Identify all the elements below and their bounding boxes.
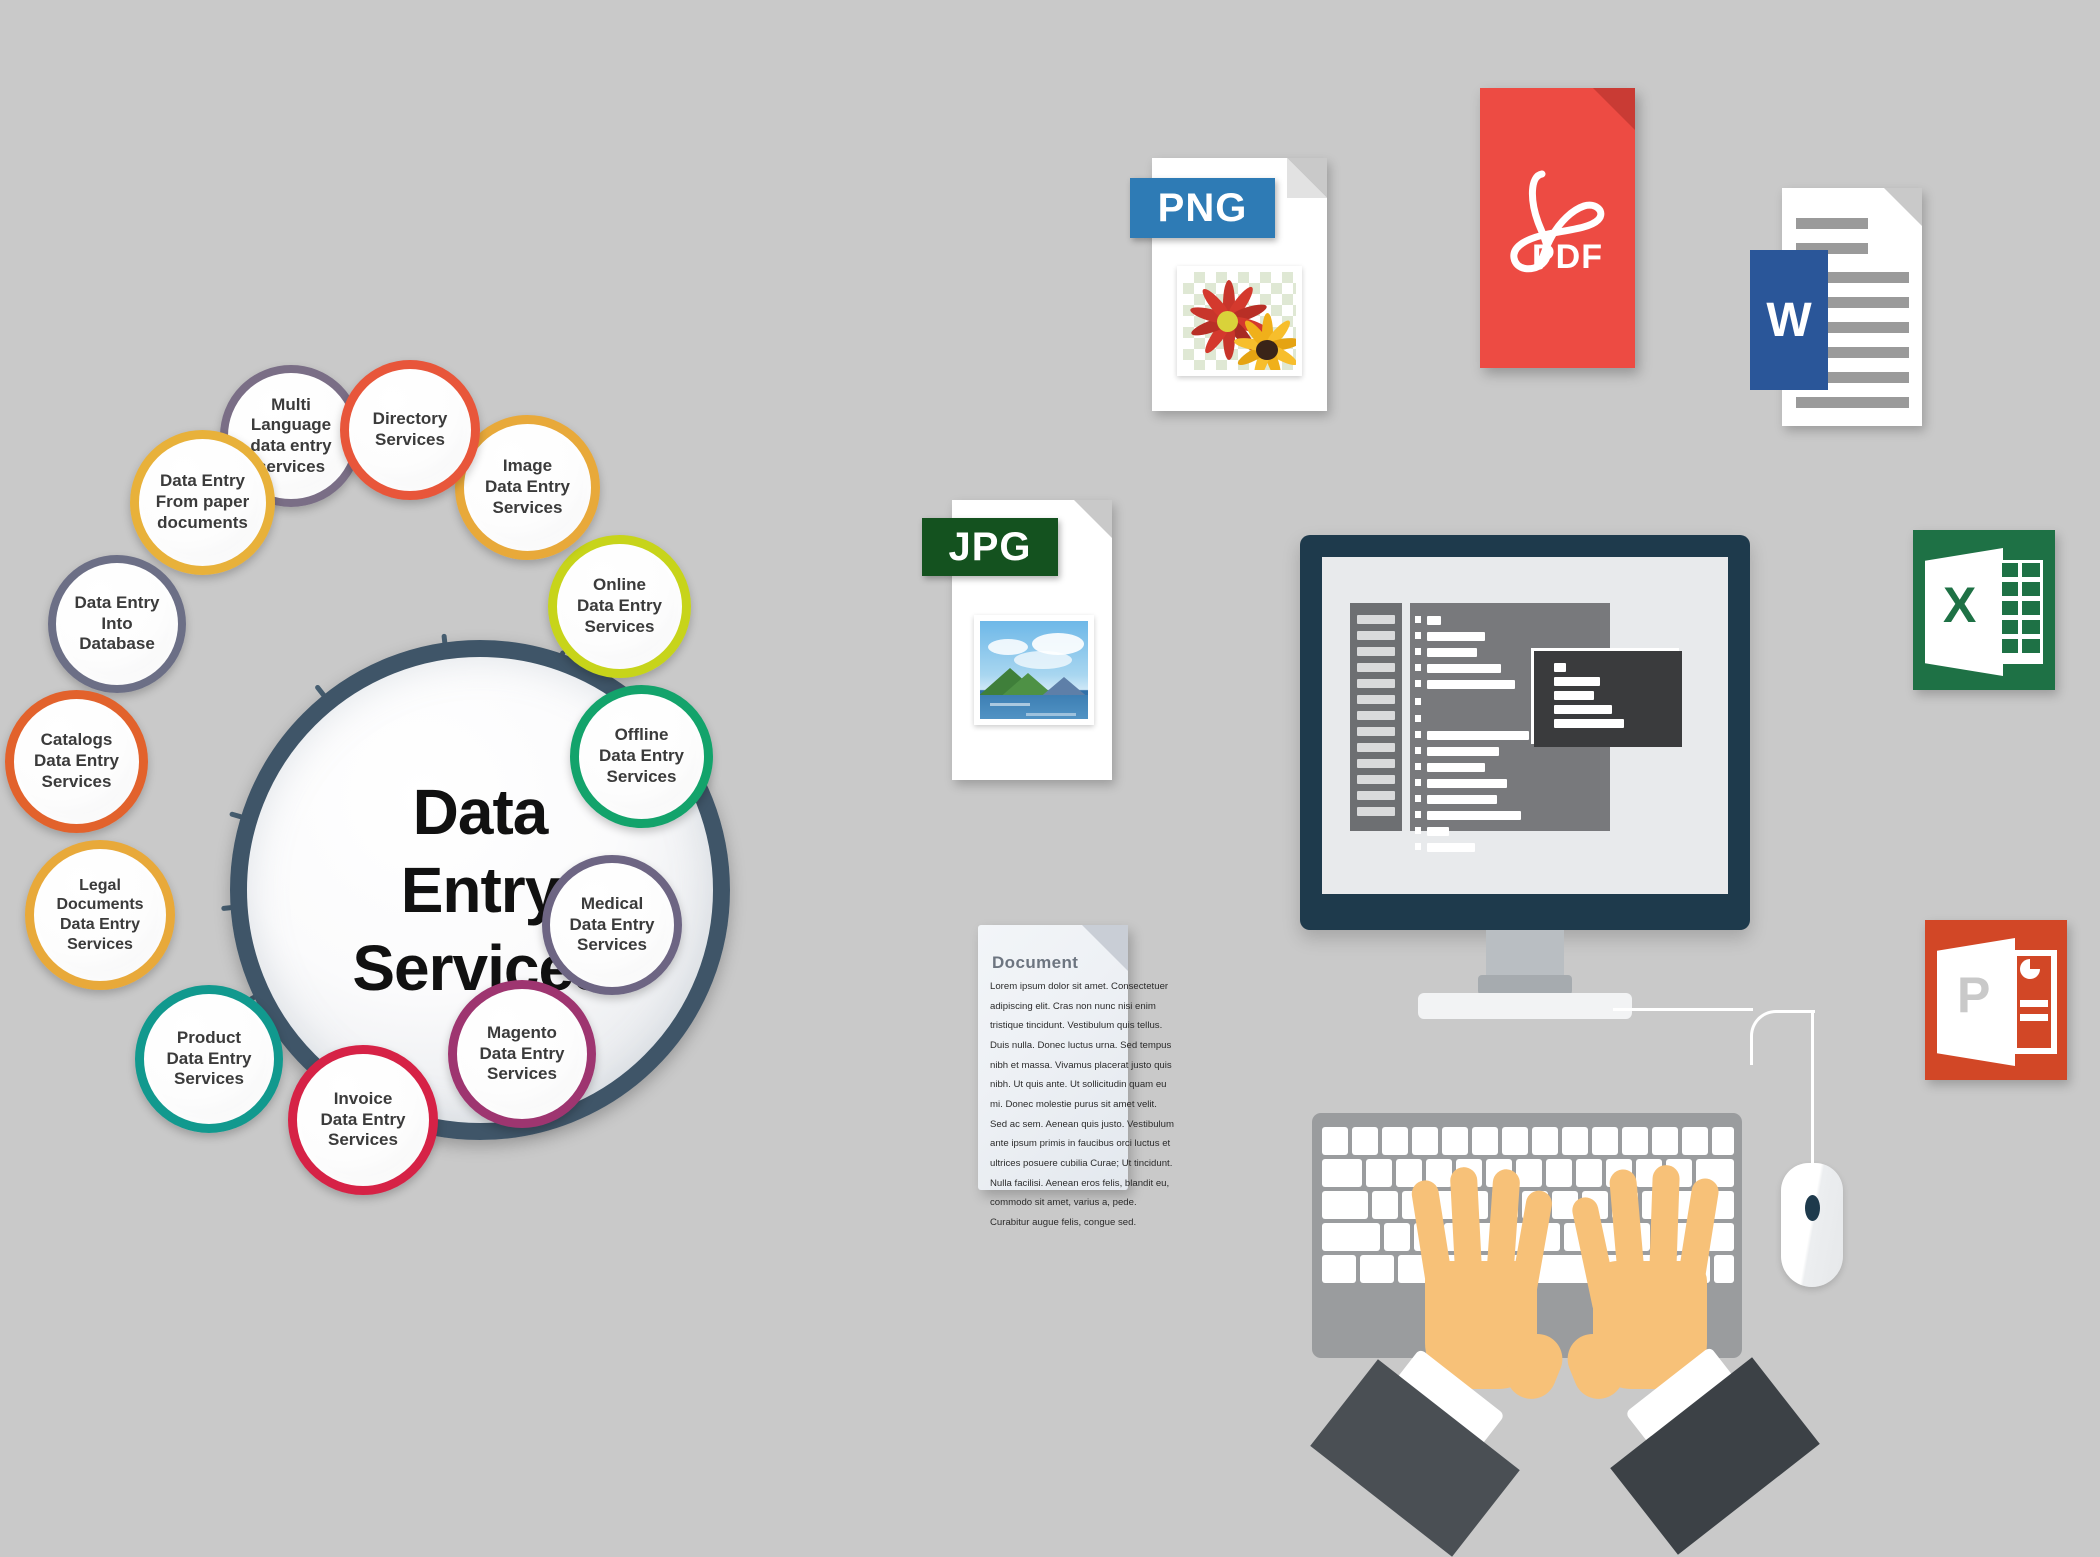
node-legal-documents[interactable]: Legal Documents Data Entry Services [25, 840, 175, 990]
node-label: Legal Documents Data Entry Services [48, 876, 151, 954]
node-label: Magento Data Entry Services [471, 1023, 572, 1085]
page-fold-corner [1082, 925, 1128, 971]
monitor-base [1418, 993, 1632, 1019]
excel-letter: X [1943, 580, 1976, 630]
monitor-neck-base [1478, 975, 1572, 995]
node-online[interactable]: Online Data Entry Services [548, 535, 691, 678]
monitor-screen [1322, 557, 1728, 894]
powerpoint-letter: P [1957, 970, 1990, 1020]
mouse-scroll-wheel [1805, 1195, 1820, 1221]
word-badge: W [1750, 250, 1828, 390]
node-catalogs[interactable]: Catalogs Data Entry Services [5, 690, 148, 833]
node-invoice[interactable]: Invoice Data Entry Services [288, 1045, 438, 1195]
jpg-badge: JPG [922, 518, 1058, 576]
node-label: Data Entry Into Database [66, 593, 167, 655]
node-data-entry-from-paper[interactable]: Data Entry From paper documents [130, 430, 275, 575]
transparency-checkerboard [1183, 272, 1296, 370]
jpg-file-icon[interactable]: JPG [952, 500, 1112, 780]
node-label: Directory Services [365, 409, 456, 450]
node-medical[interactable]: Medical Data Entry Services [542, 855, 682, 995]
pdf-label: PDF [1532, 238, 1603, 277]
powerpoint-slide [2011, 950, 2057, 1054]
mouse-cord-curve [1750, 1010, 1815, 1065]
mouse-cord-horizontal [1613, 1008, 1753, 1011]
node-label: Offline Data Entry Services [591, 725, 692, 787]
yellow-flower [1231, 312, 1296, 370]
editor-popup-window [1534, 651, 1682, 747]
node-label: Catalogs Data Entry Services [26, 730, 127, 792]
computer-mouse[interactable] [1781, 1163, 1843, 1287]
excel-file-icon[interactable]: X [1913, 530, 2055, 690]
node-label: Data Entry From paper documents [148, 471, 258, 533]
png-thumbnail [1177, 266, 1302, 376]
node-label: Image Data Entry Services [477, 456, 578, 518]
node-magento[interactable]: Magento Data Entry Services [448, 980, 596, 1128]
pdf-file-icon[interactable]: PDF [1480, 88, 1635, 368]
right-typing-hand [1555, 1163, 1755, 1503]
word-file-icon[interactable]: W [1782, 188, 1922, 426]
desktop-monitor[interactable] [1300, 535, 1750, 1035]
excel-grid [1999, 560, 2043, 664]
text-document-title: Document [992, 953, 1078, 973]
editor-sidebar [1350, 603, 1402, 831]
node-data-entry-into-database[interactable]: Data Entry Into Database [48, 555, 186, 693]
page-fold-shade [1287, 158, 1327, 198]
mouse-body [1781, 1163, 1843, 1287]
data-entry-services-wheel: Data Entry Services Multi Language data … [30, 440, 830, 1390]
node-directory[interactable]: Directory Services [340, 360, 480, 500]
acrobat-glyph [1480, 88, 1635, 368]
node-label: Medical Data Entry Services [561, 894, 662, 956]
left-typing-hand [1385, 1165, 1575, 1505]
node-offline[interactable]: Offline Data Entry Services [570, 685, 713, 828]
node-label: Invoice Data Entry Services [312, 1089, 413, 1151]
node-product[interactable]: Product Data Entry Services [135, 985, 283, 1133]
illustration-canvas: Data Entry Services Multi Language data … [0, 0, 2100, 1500]
jpg-thumbnail [974, 615, 1094, 725]
text-document-icon[interactable]: Document Lorem ipsum dolor sit amet. Con… [978, 925, 1128, 1190]
powerpoint-file-icon[interactable]: P [1925, 920, 2067, 1080]
png-badge: PNG [1130, 178, 1275, 238]
png-file-icon[interactable]: PNG [1152, 158, 1327, 411]
node-label: Product Data Entry Services [158, 1028, 259, 1090]
page-fold-corner [1074, 500, 1112, 538]
node-label: Online Data Entry Services [569, 575, 670, 637]
text-document-body: Lorem ipsum dolor sit amet. Consectetuer… [990, 977, 1175, 1233]
